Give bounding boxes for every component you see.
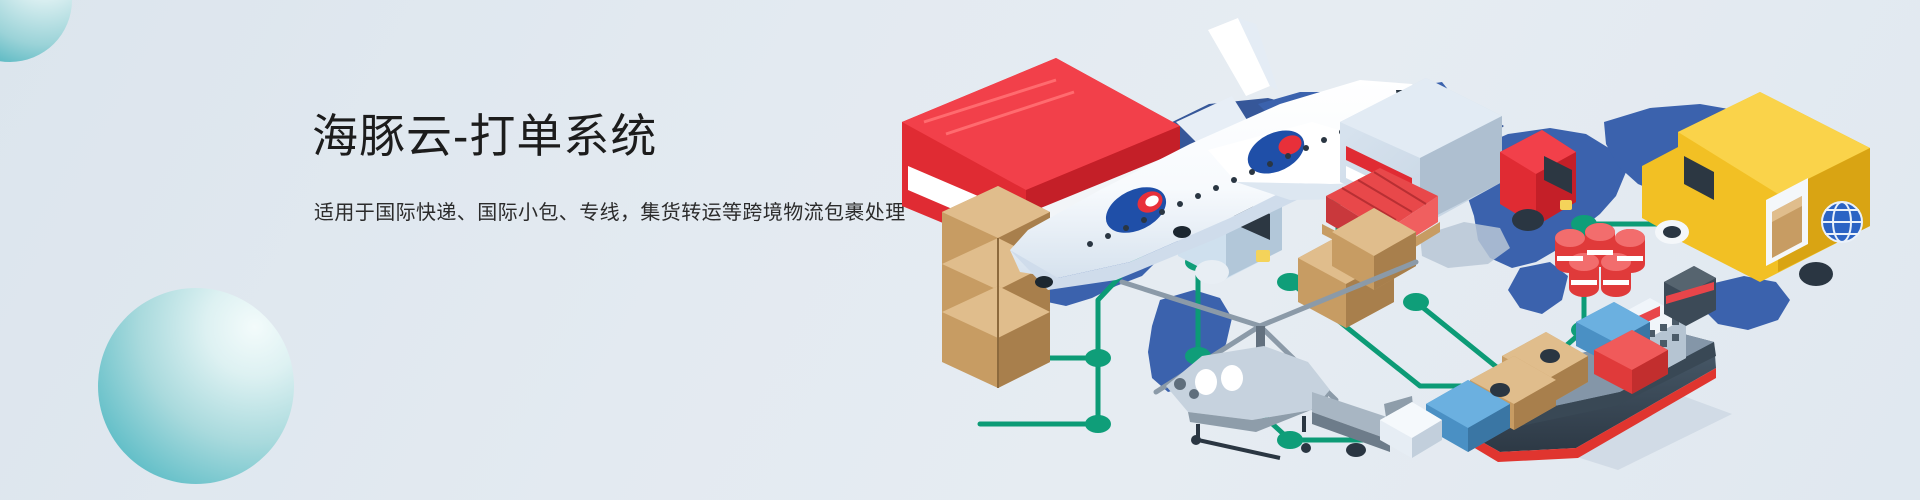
truck-headlight — [1560, 200, 1572, 210]
van-wheel — [1799, 262, 1833, 286]
route-node — [1085, 349, 1111, 367]
van-wheel — [1663, 226, 1681, 238]
helicopter-wheel — [1191, 435, 1201, 445]
route-node — [1403, 293, 1429, 311]
truck-wheel — [1512, 209, 1544, 231]
truck-wheel — [1195, 260, 1229, 284]
helicopter-wheel — [1301, 443, 1311, 453]
oil-barrels-icon — [1555, 223, 1645, 297]
hero-banner: 海豚云-打单系统 适用于国际快递、国际小包、专线，集货转运等跨境物流包裹处理 — [0, 0, 1920, 500]
bubble-bottom-left-decoration — [98, 288, 294, 484]
page-subtitle: 适用于国际快递、国际小包、专线，集货转运等跨境物流包裹处理 — [314, 198, 952, 228]
bubble-top-left-decoration — [0, 0, 72, 62]
page-title: 海豚云-打单系统 — [312, 108, 952, 164]
route-node — [1085, 415, 1111, 433]
cardboard-boxes-icon — [942, 186, 1050, 388]
truck-headlight — [1256, 250, 1270, 262]
route-node — [1277, 431, 1303, 449]
banner-copy: 海豚云-打单系统 适用于国际快递、国际小包、专线，集货转运等跨境物流包裹处理 — [312, 108, 952, 228]
logistics-illustration — [860, 0, 1920, 500]
